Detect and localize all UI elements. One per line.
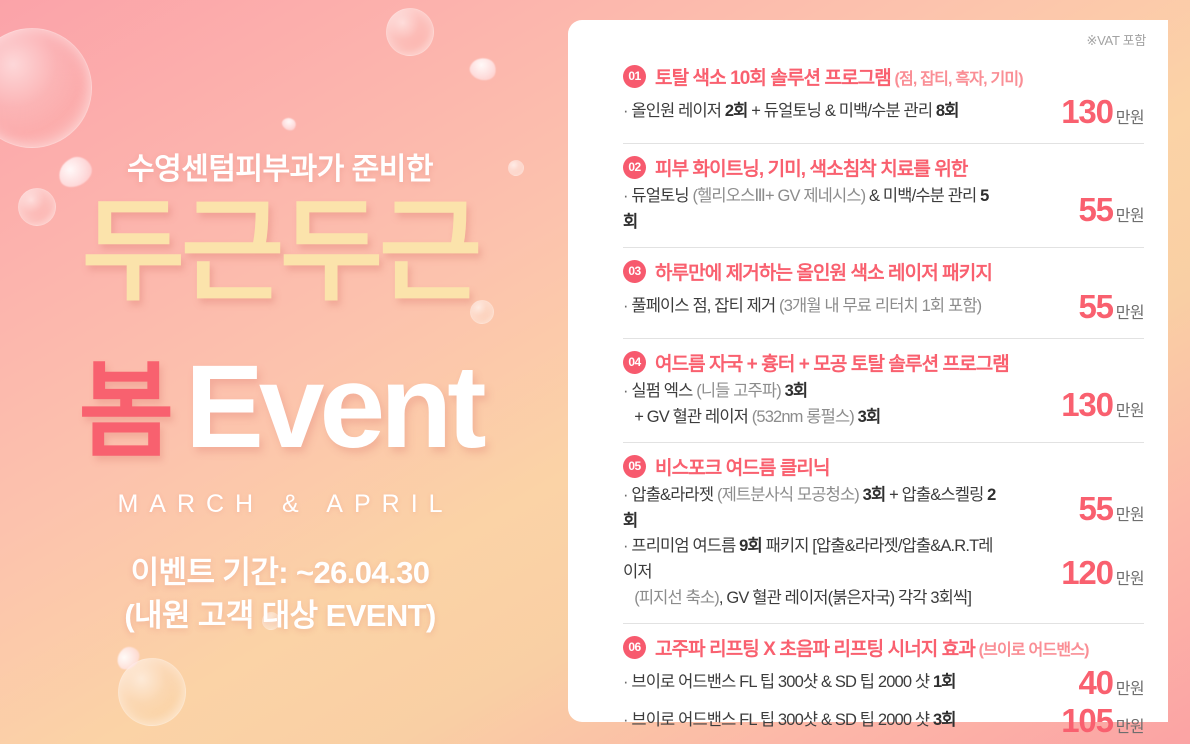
price-item: 06고주파 리프팅 X 초음파 리프팅 시너지 효과 (브이로 어드밴스)· 브… — [568, 623, 1168, 744]
price-item-row: · 듀얼토닝 (헬리오스Ⅲ+ GV 제네시스) & 미백/수분 관리 5회55만… — [623, 184, 1144, 235]
item-number-badge: 01 — [623, 65, 646, 88]
price-item-header: 03하루만에 제거하는 올인원 색소 레이저 패키지 — [623, 247, 1144, 285]
promo-period: 이벤트 기간: ~26.04.30 (내원 고객 대상 EVENT) — [0, 552, 560, 638]
promo-period-line2: (내원 고객 대상 EVENT) — [0, 595, 560, 638]
price-unit: 만원 — [1116, 681, 1144, 698]
price-item: 01토탈 색소 10회 솔루션 프로그램 (점, 잡티, 흑자, 기미)· 올인… — [568, 52, 1168, 143]
price-unit: 만원 — [1116, 110, 1144, 127]
price-item-description: · 브이로 어드밴스 FL 팁 300샷 & SD 팁 2000 샷 3회 — [623, 708, 1012, 734]
item-number-badge: 05 — [623, 455, 646, 478]
item-number-badge: 04 — [623, 351, 646, 374]
price-number: 120 — [1061, 554, 1112, 591]
price-item-row: · 프리미엄 여드름 9회 패키지 [압출&라라젯/압출&A.R.T레이저 (피… — [623, 534, 1144, 611]
price-item-header: 04여드름 자국 + 흉터 + 모공 토탈 솔루션 프로그램 — [623, 338, 1144, 376]
price-item: 04여드름 자국 + 흉터 + 모공 토탈 솔루션 프로그램· 실펌 엑스 (니… — [568, 338, 1168, 442]
price-item: 05비스포크 여드름 클리닉· 압출&라라젯 (제트분사식 모공청소) 3회 +… — [568, 442, 1168, 623]
price-item: 02피부 화이트닝, 기미, 색소침착 치료를 위한· 듀얼토닝 (헬리오스Ⅲ+… — [568, 143, 1168, 247]
price-item-header: 06고주파 리프팅 X 초음파 리프팅 시너지 효과 (브이로 어드밴스) — [623, 623, 1144, 661]
promo-column: 수영센텀피부과가 준비한 두근두근 봄Event MARCH & APRIL 이… — [0, 0, 560, 744]
price-number: 55 — [1078, 490, 1112, 527]
price-number: 130 — [1061, 93, 1112, 130]
price-unit: 만원 — [1116, 571, 1144, 588]
price-item-row: · 압출&라라젯 (제트분사식 모공청소) 3회 + 압출&스켈링 2회55만원 — [623, 483, 1144, 534]
price-value: 130만원 — [1012, 386, 1144, 424]
price-item: 03하루만에 제거하는 올인원 색소 레이저 패키지· 풀페이스 점, 잡티 제… — [568, 247, 1168, 338]
price-item-row: · 실펌 엑스 (니들 고주파) 3회 + GV 혈관 레이저 (532nm 롱… — [623, 379, 1144, 430]
price-item-row: · 풀페이스 점, 잡티 제거 (3개월 내 무료 리터치 1회 포함)55만원 — [623, 288, 1144, 326]
event-banner: 수영센텀피부과가 준비한 두근두근 봄Event MARCH & APRIL 이… — [0, 0, 1190, 744]
promo-months: MARCH & APRIL — [0, 490, 560, 519]
price-unit: 만원 — [1116, 719, 1144, 736]
price-number: 55 — [1078, 288, 1112, 325]
price-number: 130 — [1061, 386, 1112, 423]
promo-headline: 두근두근 — [0, 196, 560, 308]
price-item-description: · 브이로 어드밴스 FL 팁 300샷 & SD 팁 2000 샷 1회 — [623, 670, 1012, 696]
price-value: 55만원 — [1012, 288, 1144, 326]
price-value: 105만원 — [1012, 702, 1144, 740]
price-item-title-note: (점, 잡티, 흑자, 기미) — [891, 71, 1023, 88]
price-number: 105 — [1061, 702, 1112, 739]
price-number: 55 — [1078, 191, 1112, 228]
price-item-description: · 올인원 레이저 2회 + 듀얼토닝 & 미백/수분 관리 8회 — [623, 99, 1012, 125]
price-item-header: 02피부 화이트닝, 기미, 색소침착 치료를 위한 — [623, 143, 1144, 181]
price-item-header: 05비스포크 여드름 클리닉 — [623, 442, 1144, 480]
price-item-description: · 프리미엄 여드름 9회 패키지 [압출&라라젯/압출&A.R.T레이저 (피… — [623, 534, 1012, 611]
price-item-list: 01토탈 색소 10회 솔루션 프로그램 (점, 잡티, 흑자, 기미)· 올인… — [568, 52, 1168, 722]
price-item-title: 고주파 리프팅 X 초음파 리프팅 시너지 효과 (브이로 어드밴스) — [655, 634, 1089, 661]
promo-kicker: 수영센텀피부과가 준비한 — [0, 144, 560, 188]
promo-subheadline-en: Event — [185, 341, 481, 473]
promo-subheadline-kr: 봄 — [78, 354, 171, 470]
price-item-title: 여드름 자국 + 흉터 + 모공 토탈 솔루션 프로그램 — [655, 349, 1009, 376]
price-value: 120만원 — [1012, 554, 1144, 592]
price-item-row: · 브이로 어드밴스 FL 팁 300샷 & SD 팁 2000 샷 3회105… — [623, 702, 1144, 740]
price-value: 130만원 — [1012, 93, 1144, 131]
price-item-header: 01토탈 색소 10회 솔루션 프로그램 (점, 잡티, 흑자, 기미) — [623, 52, 1144, 90]
price-item-title: 비스포크 여드름 클리닉 — [655, 453, 830, 480]
price-value: 40만원 — [1012, 664, 1144, 702]
vat-note: ※VAT 포함 — [1087, 30, 1146, 49]
price-number: 40 — [1078, 664, 1112, 701]
price-item-description: · 듀얼토닝 (헬리오스Ⅲ+ GV 제네시스) & 미백/수분 관리 5회 — [623, 184, 1012, 235]
price-item-title: 하루만에 제거하는 올인원 색소 레이저 패키지 — [655, 258, 992, 285]
promo-subheadline: 봄Event — [0, 348, 560, 466]
item-number-badge: 02 — [623, 156, 646, 179]
price-item-description: · 압출&라라젯 (제트분사식 모공청소) 3회 + 압출&스켈링 2회 — [623, 483, 1012, 534]
item-number-badge: 06 — [623, 636, 646, 659]
price-item-title-note: (브이로 어드밴스) — [975, 642, 1089, 659]
price-unit: 만원 — [1116, 208, 1144, 225]
price-value: 55만원 — [1012, 191, 1144, 229]
price-item-description: · 실펌 엑스 (니들 고주파) 3회 + GV 혈관 레이저 (532nm 롱… — [623, 379, 1012, 430]
price-unit: 만원 — [1116, 305, 1144, 322]
price-item-title: 피부 화이트닝, 기미, 색소침착 치료를 위한 — [655, 154, 968, 181]
promo-period-line1: 이벤트 기간: ~26.04.30 — [0, 552, 560, 595]
item-number-badge: 03 — [623, 260, 646, 283]
price-item-title: 토탈 색소 10회 솔루션 프로그램 (점, 잡티, 흑자, 기미) — [655, 63, 1023, 90]
price-item-row: · 올인원 레이저 2회 + 듀얼토닝 & 미백/수분 관리 8회130만원 — [623, 93, 1144, 131]
price-unit: 만원 — [1116, 403, 1144, 420]
price-value: 55만원 — [1012, 490, 1144, 528]
price-item-row: · 브이로 어드밴스 FL 팁 300샷 & SD 팁 2000 샷 1회40만… — [623, 664, 1144, 702]
price-unit: 만원 — [1116, 507, 1144, 524]
price-card: ※VAT 포함 01토탈 색소 10회 솔루션 프로그램 (점, 잡티, 흑자,… — [568, 20, 1168, 722]
price-item-description: · 풀페이스 점, 잡티 제거 (3개월 내 무료 리터치 1회 포함) — [623, 294, 1012, 320]
